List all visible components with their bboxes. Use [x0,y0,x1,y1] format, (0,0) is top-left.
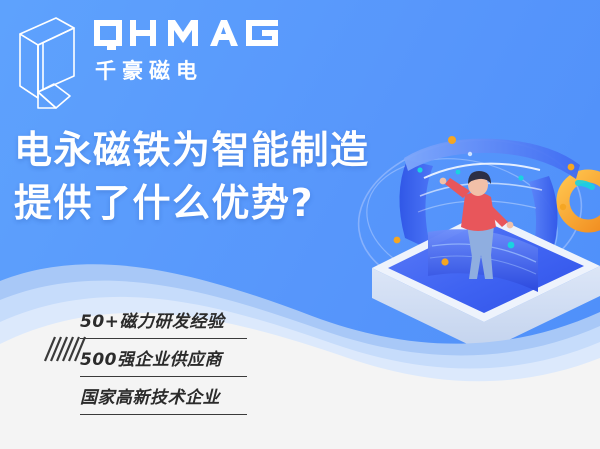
accent-dot [518,175,523,180]
claim-item: 500强企业供应商 [80,346,247,377]
accent-dot [560,204,566,210]
accent-dot [456,170,461,175]
accent-dot [508,242,515,249]
headline: 电永磁铁为智能制造 提供了什么优势? [14,126,454,227]
accent-dot [441,258,448,265]
brand-logo[interactable]: 千豪磁电 [14,8,294,108]
claims-list: 50+磁力研发经验 500强企业供应商 国家高新技术企业 [80,308,310,415]
magnet-cube-icon [14,12,80,114]
poster-canvas: 千豪磁电 电永磁铁为智能制造 提供了什么优势? 50+磁力研发经验 500强企业… [0,0,600,449]
claim-item: 国家高新技术企业 [80,384,247,415]
accent-dot [568,164,575,171]
accent-dot [394,237,401,244]
headline-line-1: 电永磁铁为智能制造 [14,126,454,174]
accent-dot [468,152,472,156]
headline-line-2: 提供了什么优势? [14,179,454,227]
brand-name-cn: 千豪磁电 [95,61,292,82]
qhmag-wordmark [92,18,282,54]
claim-item: 50+磁力研发经验 [80,308,247,339]
